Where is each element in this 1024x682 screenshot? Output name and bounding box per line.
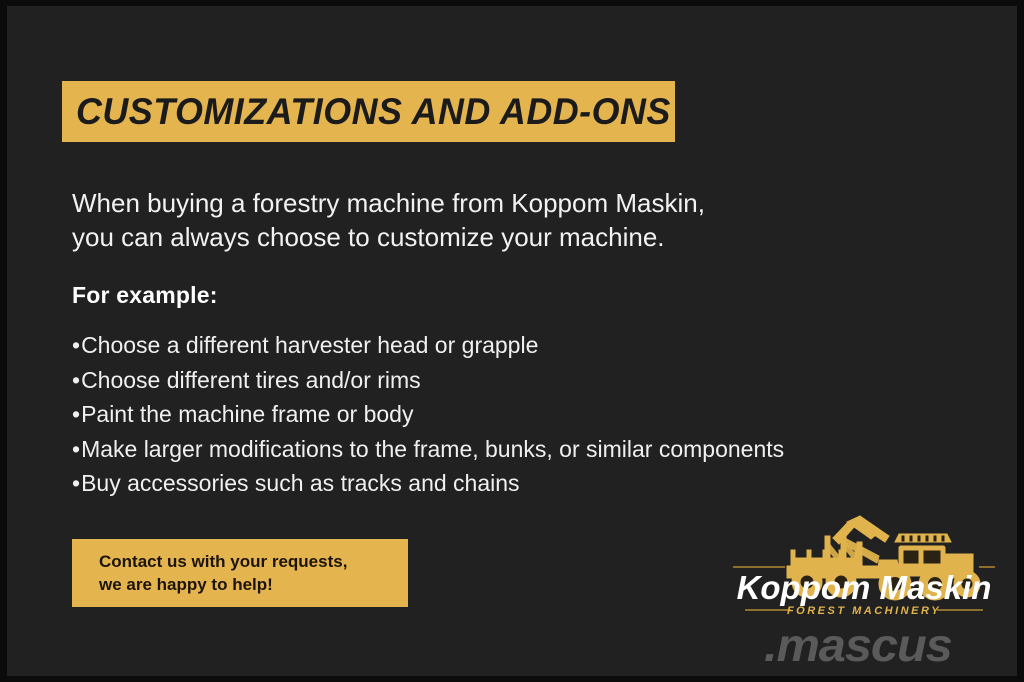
slide-card: CUSTOMIZATIONS AND ADD-ONS When buying a… [7, 6, 1017, 676]
bullet-marker-icon: • [72, 367, 80, 393]
bullet-marker-icon: • [72, 436, 80, 462]
promo-slide: CUSTOMIZATIONS AND ADD-ONS When buying a… [0, 0, 1024, 682]
bullet-marker-icon: • [72, 470, 80, 496]
mascus-watermark: .mascus [764, 619, 1014, 671]
list-item: •Buy accessories such as tracks and chai… [72, 466, 832, 501]
list-item-label: Paint the machine frame or body [81, 401, 413, 427]
logo-tagline: FOREST MACHINERY [787, 605, 941, 617]
mascus-wordmark: .mascus [764, 619, 1024, 671]
bullet-marker-icon: • [72, 401, 80, 427]
list-item-label: Choose different tires and/or rims [81, 367, 421, 393]
koppom-maskin-logo: EST 1967 Koppom Maskin FOREST MACHINERY [729, 506, 999, 618]
logo-brand-name: Koppom Maskin [737, 569, 992, 606]
customization-options-list: •Choose a different harvester head or gr… [72, 328, 832, 501]
list-item: •Paint the machine frame or body [72, 397, 832, 432]
list-item-label: Make larger modifications to the frame, … [81, 436, 784, 462]
list-item: •Choose a different harvester head or gr… [72, 328, 832, 363]
title-banner: CUSTOMIZATIONS AND ADD-ONS [62, 81, 675, 142]
list-item: •Make larger modifications to the frame,… [72, 432, 832, 467]
intro-line-2: you can always choose to customize your … [72, 220, 772, 254]
contact-cta-box[interactable]: Contact us with your requests, we are ha… [72, 539, 408, 607]
contact-line-2: we are happy to help! [99, 573, 408, 596]
contact-line-1: Contact us with your requests, [99, 550, 408, 573]
for-example-label: For example: [72, 282, 218, 309]
intro-paragraph: When buying a forestry machine from Kopp… [72, 186, 772, 254]
list-item: •Choose different tires and/or rims [72, 363, 832, 398]
list-item-label: Buy accessories such as tracks and chain… [81, 470, 519, 496]
intro-line-1: When buying a forestry machine from Kopp… [72, 186, 772, 220]
page-title: CUSTOMIZATIONS AND ADD-ONS [76, 91, 671, 133]
bullet-marker-icon: • [72, 332, 80, 358]
list-item-label: Choose a different harvester head or gra… [81, 332, 538, 358]
